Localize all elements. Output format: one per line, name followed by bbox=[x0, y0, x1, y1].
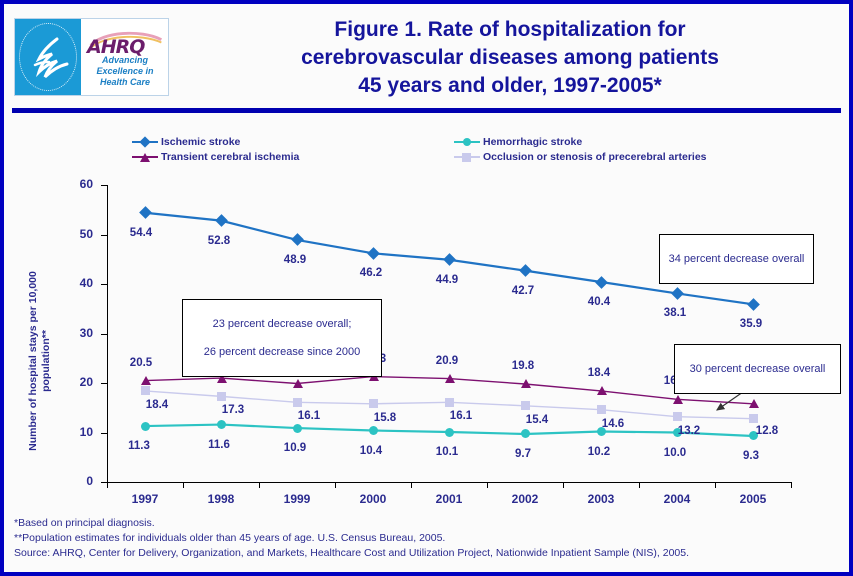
footnote-2: **Population estimates for individuals o… bbox=[14, 531, 844, 546]
figure-title-line-2: cerebrovascular diseases among patients bbox=[180, 44, 840, 72]
figure-footnotes: *Based on principal diagnosis. **Populat… bbox=[14, 516, 844, 561]
annotation-transient-note-line-2: 26 percent decrease since 2000 bbox=[189, 345, 375, 359]
legend-item-transient-cerebral-ischemia: Transient cerebral ischemia bbox=[132, 151, 299, 163]
figure-header: AHRQ Advancing Excellence in Health Care… bbox=[4, 4, 849, 108]
chart-legend: Ischemic stroke Transient cerebral ische… bbox=[132, 136, 832, 168]
legend-key-hemorrhagic-stroke bbox=[454, 136, 480, 148]
legend-label-hemorrhagic-stroke: Hemorrhagic stroke bbox=[483, 136, 582, 148]
legend-label-occlusion-or-stenosis: Occlusion or stenosis of precerebral art… bbox=[483, 151, 707, 163]
annotation-transient-note-line-1: 23 percent decrease overall; bbox=[189, 317, 375, 331]
square-marker-icon bbox=[462, 153, 471, 162]
footnote-source: Source: AHRQ, Center for Delivery, Organ… bbox=[14, 546, 844, 561]
ahrq-logo: AHRQ Advancing Excellence in Health Care bbox=[14, 18, 169, 96]
annotation-transient-note: 23 percent decrease overall; 26 percent … bbox=[182, 299, 382, 377]
annotation-ischemic-note-line-1: 34 percent decrease overall bbox=[666, 252, 807, 266]
annotation-ischemic-note: 34 percent decrease overall bbox=[659, 234, 814, 284]
figure-title: Figure 1. Rate of hospitalization for ce… bbox=[180, 16, 840, 100]
ahrq-wordmark: AHRQ bbox=[85, 31, 165, 53]
ahrq-tagline-line-2: Excellence in bbox=[81, 66, 169, 77]
annotation-occlusion-note: 30 percent decrease overall bbox=[674, 344, 841, 394]
legend-label-ischemic-stroke: Ischemic stroke bbox=[161, 136, 240, 148]
legend-item-occlusion-or-stenosis: Occlusion or stenosis of precerebral art… bbox=[454, 151, 707, 163]
figure-title-line-1: Figure 1. Rate of hospitalization for bbox=[180, 16, 840, 44]
circle-marker-icon bbox=[463, 138, 471, 146]
chart-plot-area: Number of hospital stays per 10,000 popu… bbox=[4, 172, 849, 512]
ahrq-tagline: Advancing Excellence in Health Care bbox=[81, 55, 169, 88]
annotation-arrows bbox=[4, 172, 849, 512]
footnote-1: *Based on principal diagnosis. bbox=[14, 516, 844, 531]
legend-item-ischemic-stroke: Ischemic stroke bbox=[132, 136, 240, 148]
ahrq-wordmark-block: AHRQ Advancing Excellence in Health Care bbox=[81, 19, 168, 95]
legend-key-ischemic-stroke bbox=[132, 136, 158, 148]
legend-key-transient-cerebral-ischemia bbox=[132, 151, 158, 163]
ahrq-tagline-line-3: Health Care bbox=[81, 77, 169, 88]
legend-key-occlusion-or-stenosis bbox=[454, 151, 480, 163]
diamond-marker-icon bbox=[139, 136, 150, 147]
ahrq-tagline-line-1: Advancing bbox=[81, 55, 169, 66]
legend-item-hemorrhagic-stroke: Hemorrhagic stroke bbox=[454, 136, 582, 148]
triangle-marker-icon bbox=[140, 153, 150, 162]
hhs-bird-icon bbox=[27, 35, 71, 81]
hhs-seal-icon bbox=[15, 19, 81, 95]
annotation-occlusion-note-line-1: 30 percent decrease overall bbox=[681, 362, 834, 376]
figure-page: AHRQ Advancing Excellence in Health Care… bbox=[0, 0, 853, 576]
legend-label-transient-cerebral-ischemia: Transient cerebral ischemia bbox=[161, 151, 299, 163]
title-divider bbox=[12, 108, 841, 113]
figure-title-line-3: 45 years and older, 1997-2005* bbox=[180, 72, 840, 100]
